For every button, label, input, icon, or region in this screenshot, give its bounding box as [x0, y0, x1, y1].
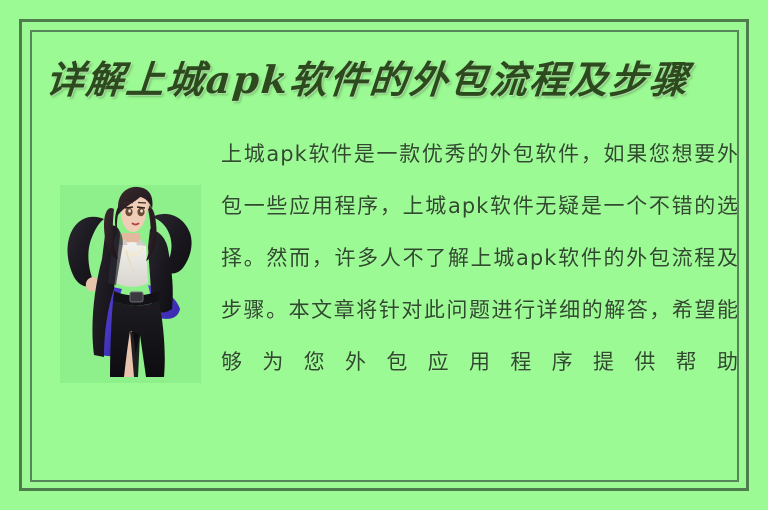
anime-woman-illustration-art [60, 185, 201, 383]
page-title: 详解上城apk软件的外包流程及步骤 [44, 56, 728, 104]
anime-woman-illustration [60, 185, 201, 383]
article-body: 上城apk软件是一款优秀的外包软件，如果您想要外包一些应用程序，上城apk软件无… [221, 128, 739, 440]
poster-canvas: 详解上城apk软件的外包流程及步骤 [0, 0, 768, 510]
